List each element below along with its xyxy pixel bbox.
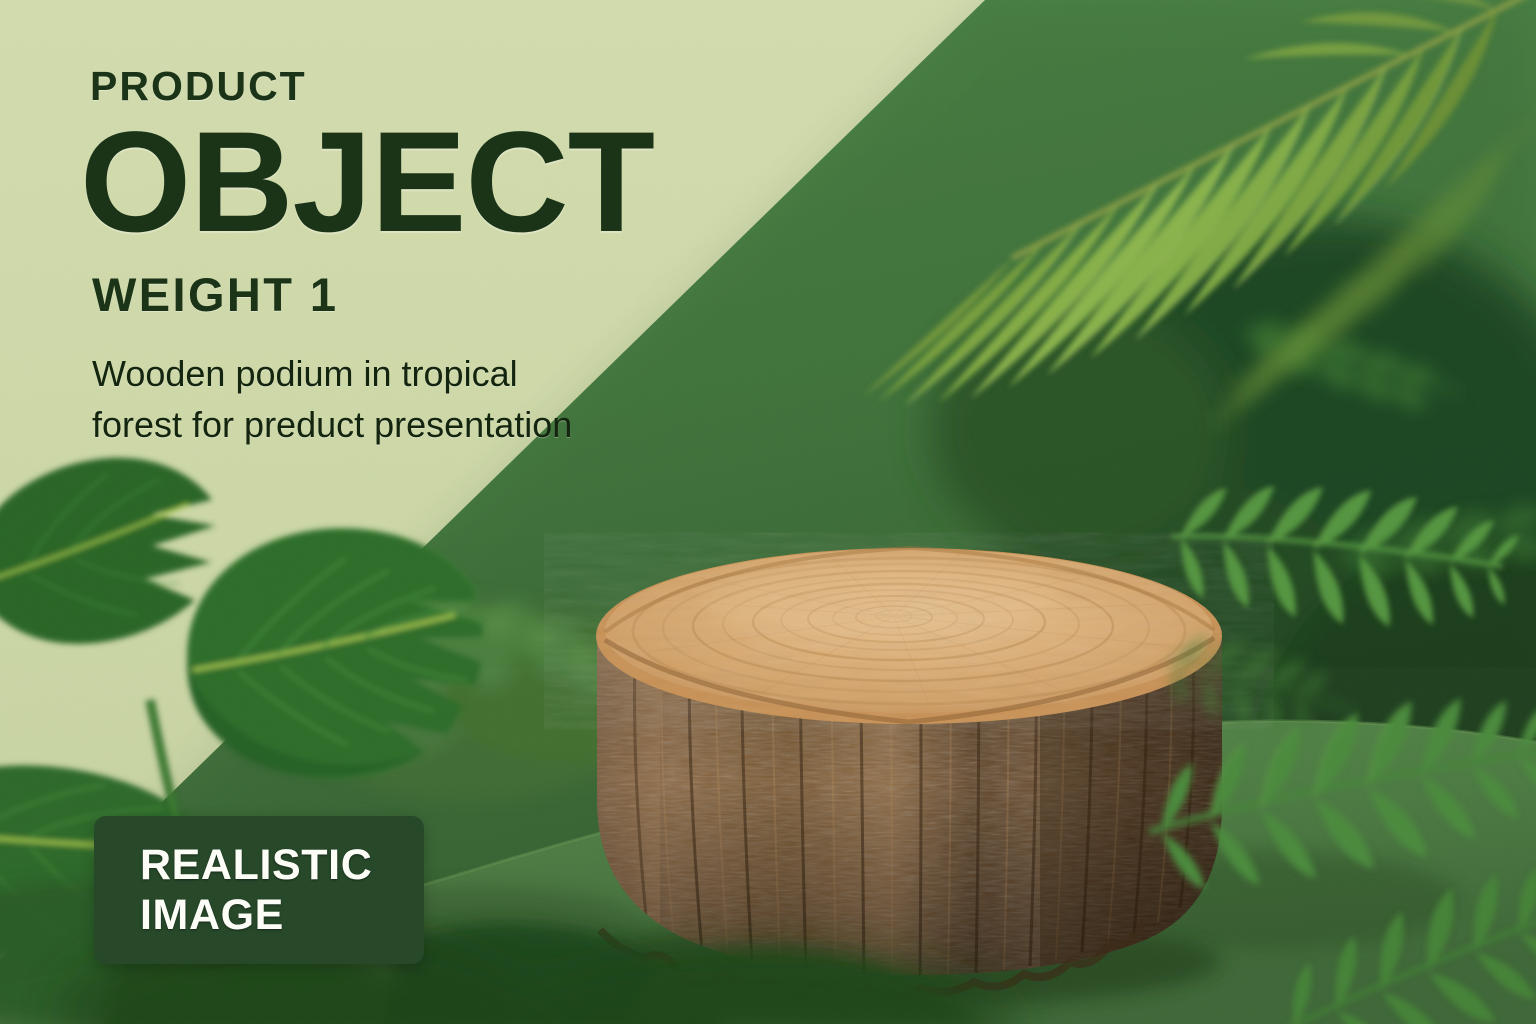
description-line-2: forest for preduct presentation [92,404,572,445]
badge-line-1: REALISTIC [140,840,424,890]
badge-line-2: IMAGE [140,890,424,940]
poster-canvas: PRODUCT OBJECT WEIGHT 1 Wooden podium in… [0,0,1536,1024]
status-badge: REALISTIC IMAGE [94,816,424,964]
eyebrow-label: PRODUCT [90,66,868,107]
description-line-1: Wooden podium in tropical [92,353,518,394]
description-text: Wooden podium in tropical forest for pre… [92,348,692,451]
weight-label: WEIGHT 1 [92,271,868,318]
headline-block: PRODUCT OBJECT WEIGHT 1 Wooden podium in… [88,66,868,450]
page-title: OBJECT [80,117,868,249]
